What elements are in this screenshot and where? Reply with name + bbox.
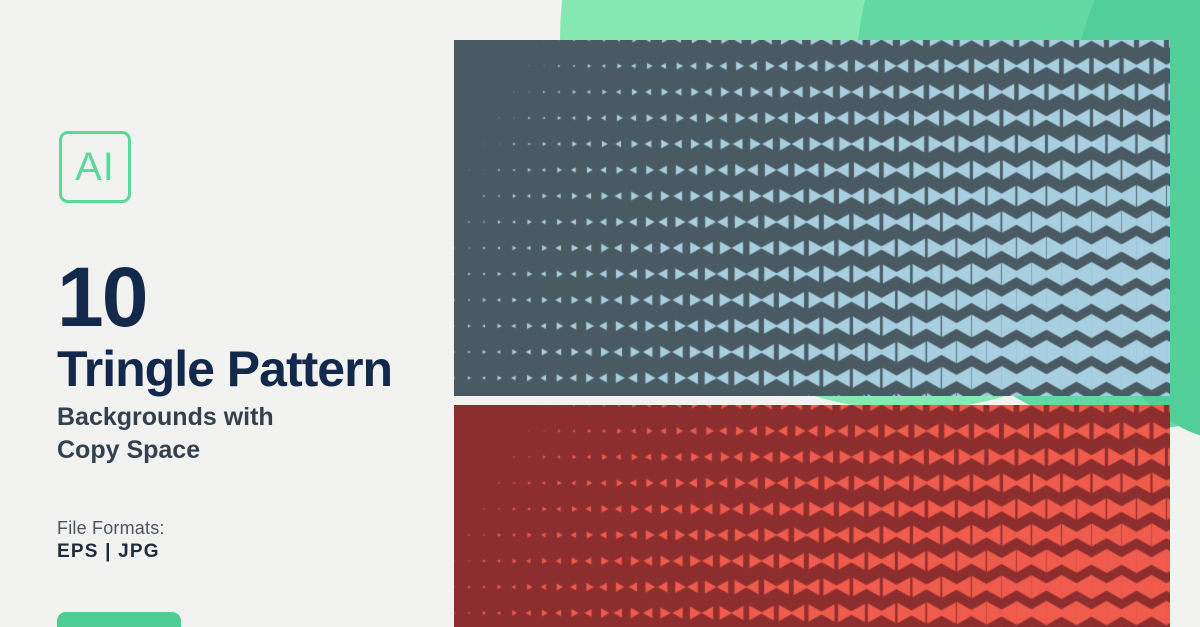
headline-subtitle: Backgrounds with Copy Space [57,401,274,466]
preview-card-red[interactable] [454,405,1170,627]
page-title: Tringle Pattern [57,343,392,396]
info-panel: AI 10 Tringle Pattern Backgrounds with C… [0,0,454,627]
headline-count: 10 [57,259,146,336]
file-formats-label: File Formats: [57,518,165,539]
preview-card-slate[interactable] [454,40,1170,396]
headline-subtitle-line-1: Backgrounds with [57,401,274,434]
product-banner: AI 10 Tringle Pattern Backgrounds with C… [0,0,1200,627]
headline-subtitle-line-2: Copy Space [57,434,274,467]
triangle-pattern-slate [454,40,1170,396]
ai-badge-label: AI [75,147,115,187]
file-formats-value: EPS | JPG [57,541,160,563]
cta-button[interactable] [57,612,181,627]
ai-format-badge: AI [59,131,131,203]
triangle-pattern-red [454,405,1170,627]
